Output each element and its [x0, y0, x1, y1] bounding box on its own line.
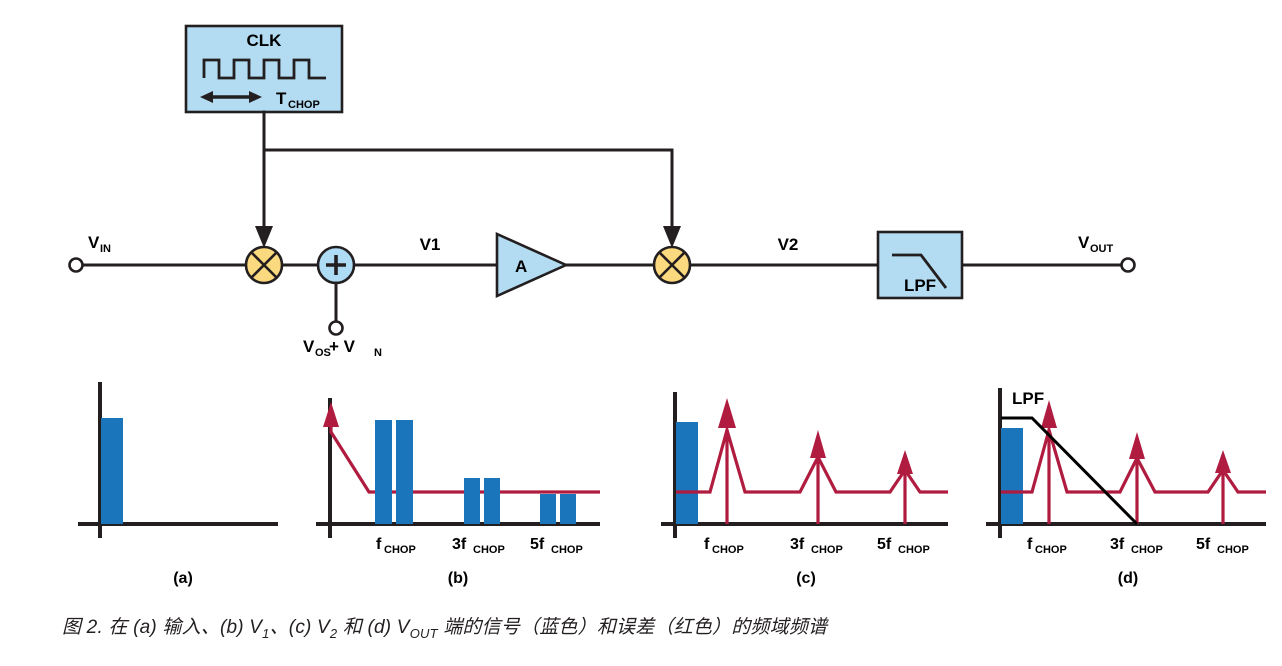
caption-part-2: 、(c) V: [270, 617, 330, 638]
panel-b-signal-bar: [484, 478, 500, 524]
node-v2-label: V2: [778, 235, 799, 254]
spectrum-panel-b: f CHOP 3f CHOP 5f CHOP (b): [316, 398, 600, 587]
spectrum-panel-c: f CHOP 3f CHOP 5f CHOP (c): [661, 392, 948, 587]
panel-d-tick-f3-sub: CHOP: [1131, 544, 1163, 556]
panel-b-tick-f5: 5f: [530, 536, 545, 553]
panel-c-tick-f5-sub: CHOP: [898, 544, 930, 556]
panel-c-arrow-f3-icon: [810, 430, 826, 458]
panel-c-tick-f1: f: [704, 536, 710, 553]
panel-b-signal-bar: [375, 420, 392, 524]
panel-b-signal-bar: [464, 478, 480, 524]
panel-b-signal-bar: [560, 494, 576, 524]
output-label-sub: OUT: [1090, 243, 1114, 255]
panel-c-arrow-f1-icon: [718, 398, 736, 428]
amplifier: A: [497, 234, 566, 296]
input-label: V: [88, 233, 100, 252]
panel-c-tick-f3: 3f: [790, 536, 805, 553]
amplifier-label: A: [515, 257, 527, 276]
panel-c-signal-bar: [676, 422, 698, 524]
panel-d-signal-bar: [1001, 428, 1023, 524]
spectrum-panel-a: (a): [78, 382, 278, 587]
panel-a-caption: (a): [173, 570, 193, 587]
panel-b-signal-bar: [540, 494, 556, 524]
node-v1-label: V1: [420, 235, 441, 254]
panel-b-tick-f3-sub: CHOP: [473, 544, 505, 556]
panel-c-arrow-f5-icon: [897, 450, 913, 474]
clock-block: CLK T CHOP: [186, 26, 342, 112]
clock-arrow-mixer1-icon: [255, 226, 273, 248]
output-label: V: [1078, 233, 1090, 252]
panel-d-lpf-label: LPF: [1012, 389, 1044, 408]
panel-d-tick-f1: f: [1027, 536, 1033, 553]
panel-a-signal-bar: [101, 418, 123, 524]
panel-c-caption: (c): [796, 570, 816, 587]
clock-label: CLK: [247, 31, 283, 50]
panel-c-tick-f1-sub: CHOP: [712, 544, 744, 556]
noise-label-v: V: [303, 337, 315, 356]
panel-d-caption: (d): [1118, 570, 1138, 587]
panel-c-tick-f3-sub: CHOP: [811, 544, 843, 556]
spectrum-panel-d: LPF f CHOP 3f CHOP 5f CHOP (d): [986, 388, 1266, 587]
caption-sub-1: 1: [262, 626, 269, 641]
panel-b-caption: (b): [448, 570, 468, 587]
input-label-sub: IN: [100, 243, 111, 255]
caption-part-4: 端的信号（蓝色）和误差（红色）的频域频谱: [438, 617, 827, 638]
noise-label-plus: + V: [329, 337, 356, 356]
panel-d-tick-f3: 3f: [1110, 536, 1125, 553]
caption-part-3: 和 (d) V: [337, 617, 409, 638]
figure-caption: 图 2. 在 (a) 输入、(b) V1、(c) V2 和 (d) VOUT 端…: [62, 612, 1242, 641]
panel-c-error-trace: [676, 398, 948, 524]
period-label: T: [276, 89, 287, 108]
low-pass-filter-block: LPF: [878, 232, 962, 298]
clock-arrow-mixer2-icon: [663, 226, 681, 248]
chopper-amplifier-figure: CLK T CHOP V IN: [0, 0, 1282, 666]
panel-b-signal-bar: [396, 420, 413, 524]
panel-b-tick-f1: f: [376, 536, 382, 553]
panel-b-tick-f1-sub: CHOP: [384, 544, 416, 556]
panel-d-arrow-f3-icon: [1129, 432, 1145, 459]
panel-b-tick-f3: 3f: [452, 536, 467, 553]
panel-d-error-trace: [1001, 400, 1266, 524]
noise-source-node: [330, 322, 343, 335]
output-chopper-mixer: [654, 247, 690, 283]
input-chopper-mixer: [246, 247, 282, 283]
amplifier-triangle: [497, 234, 566, 296]
caption-sub-3: OUT: [410, 626, 438, 641]
figure-root: CLK T CHOP V IN: [0, 0, 1282, 666]
panel-d-tick-f5-sub: CHOP: [1217, 544, 1249, 556]
panel-b-dc-arrow-icon: [323, 402, 339, 427]
panel-d-tick-f5: 5f: [1196, 536, 1211, 553]
output-terminal-node: [1122, 259, 1135, 272]
panel-b-tick-f5-sub: CHOP: [551, 544, 583, 556]
panel-d-tick-f1-sub: CHOP: [1035, 544, 1067, 556]
clock-routing: [255, 112, 681, 248]
panel-b-error-trace: [323, 402, 600, 492]
panel-c-tick-f5: 5f: [877, 536, 892, 553]
lpf-label: LPF: [904, 276, 936, 295]
noise-label-n: N: [374, 347, 382, 359]
panel-d-arrow-f5-icon: [1215, 450, 1231, 473]
caption-part-1: 图 2. 在 (a) 输入、(b) V: [62, 617, 262, 638]
input-terminal-node: [70, 259, 83, 272]
period-label-sub: CHOP: [288, 99, 320, 111]
